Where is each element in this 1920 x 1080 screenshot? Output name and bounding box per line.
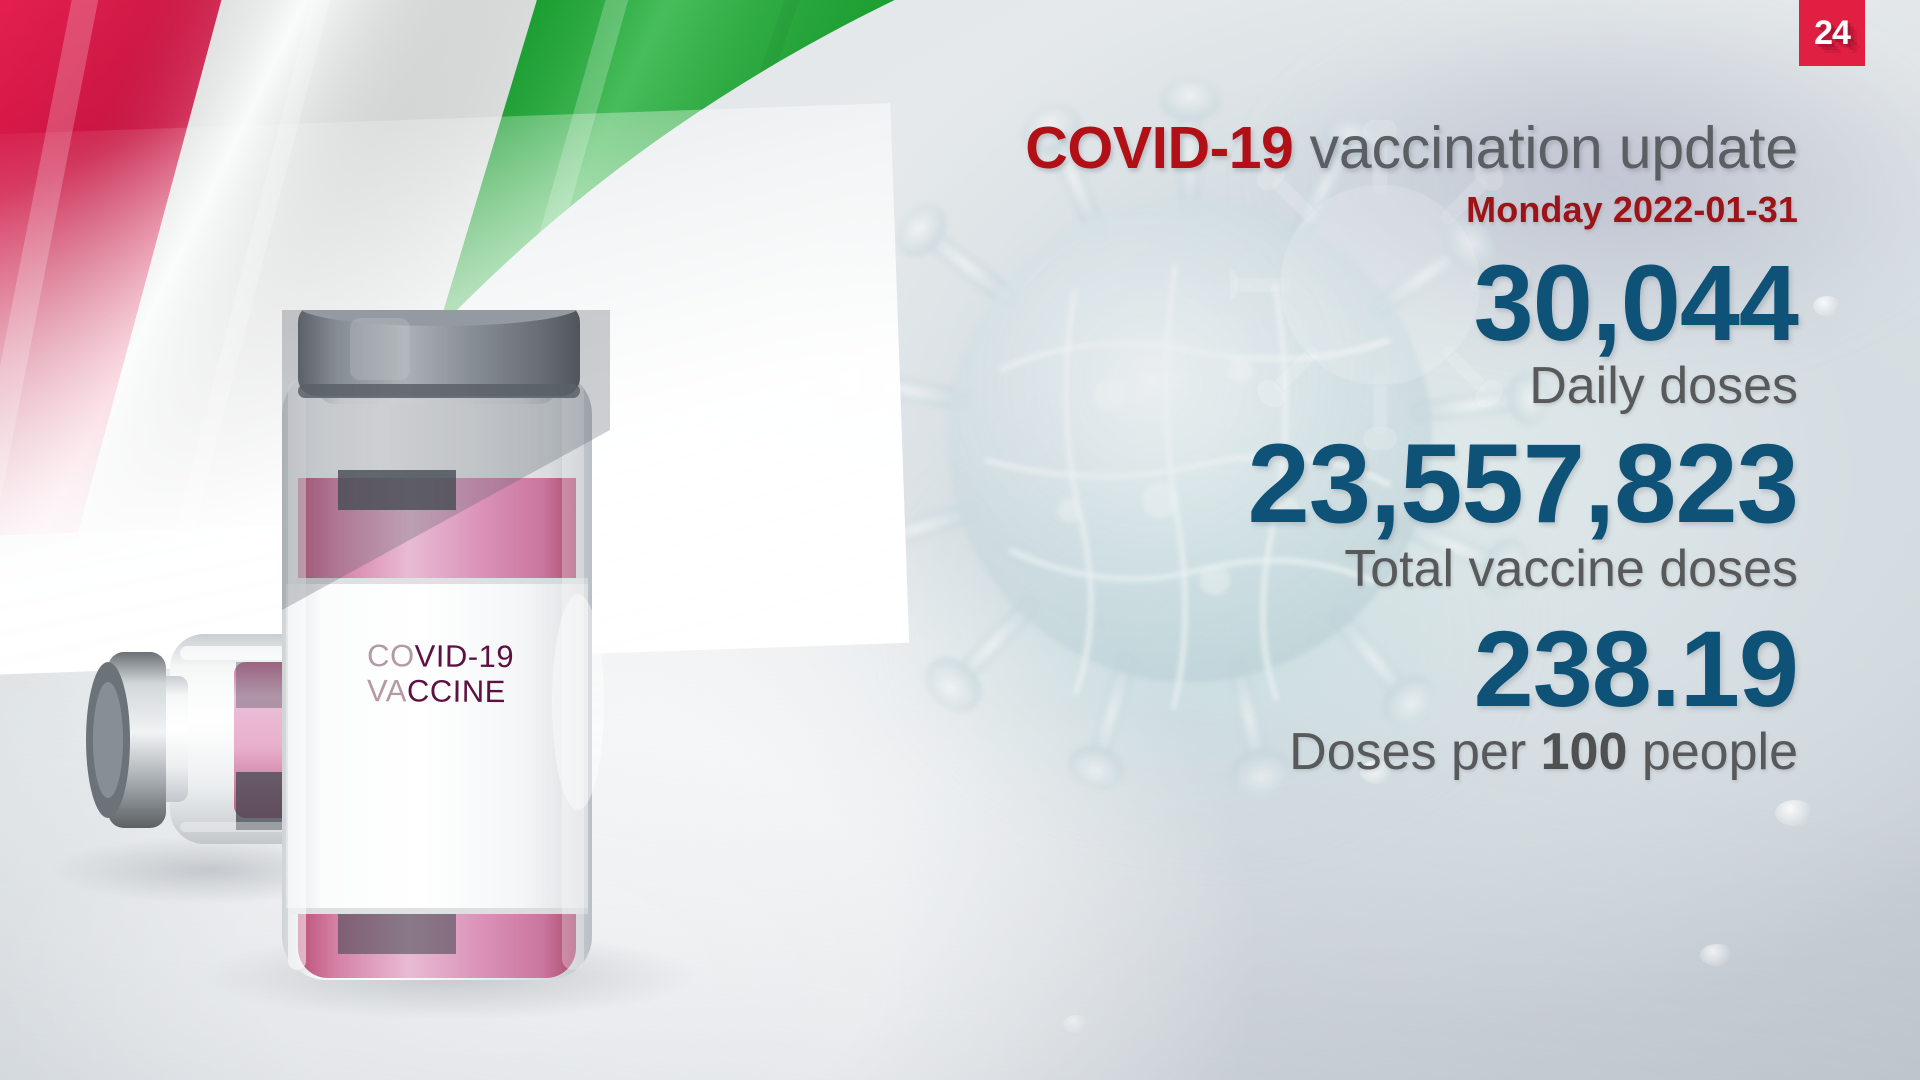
- stat-doses-per-100-caption-post: people: [1627, 723, 1798, 781]
- page-title-highlight: COVID-19: [1025, 115, 1293, 181]
- vaccine-vial-illustration: [50, 310, 770, 1030]
- stat-total-doses: 23,557,823 Total vaccine doses: [878, 428, 1798, 597]
- stat-doses-per-100-caption-bold: 100: [1541, 723, 1628, 781]
- infographic-canvas: COVID-19 VACCINE 24 COVID-19 vaccination…: [0, 0, 1920, 1080]
- stat-daily-doses: 30,044 Daily doses: [878, 249, 1798, 414]
- stat-total-doses-caption-pre: Total vaccine doses: [1344, 540, 1798, 598]
- stat-doses-per-100-caption-pre: Doses per: [1289, 723, 1540, 781]
- stat-doses-per-100-value: 238.19: [878, 615, 1798, 723]
- stat-daily-doses-caption-pre: Daily doses: [1529, 357, 1798, 415]
- content-column: COVID-19 vaccination update Monday 2022-…: [878, 118, 1798, 779]
- logo-badge-text: 24: [1814, 16, 1850, 50]
- stat-daily-doses-value: 30,044: [878, 249, 1798, 357]
- page-title: COVID-19 vaccination update: [878, 118, 1798, 179]
- stat-doses-per-100-caption: Doses per 100 people: [878, 725, 1798, 780]
- stats-group: 30,044 Daily doses 23,557,823 Total vacc…: [878, 249, 1798, 779]
- page-title-rest: vaccination update: [1293, 115, 1798, 181]
- stat-total-doses-caption: Total vaccine doses: [878, 542, 1798, 597]
- stat-daily-doses-caption: Daily doses: [878, 359, 1798, 414]
- stat-doses-per-100: 238.19 Doses per 100 people: [878, 615, 1798, 780]
- stat-total-doses-value: 23,557,823: [878, 428, 1798, 540]
- report-date: Monday 2022-01-31: [878, 189, 1798, 231]
- logo-badge-24[interactable]: 24: [1799, 0, 1865, 66]
